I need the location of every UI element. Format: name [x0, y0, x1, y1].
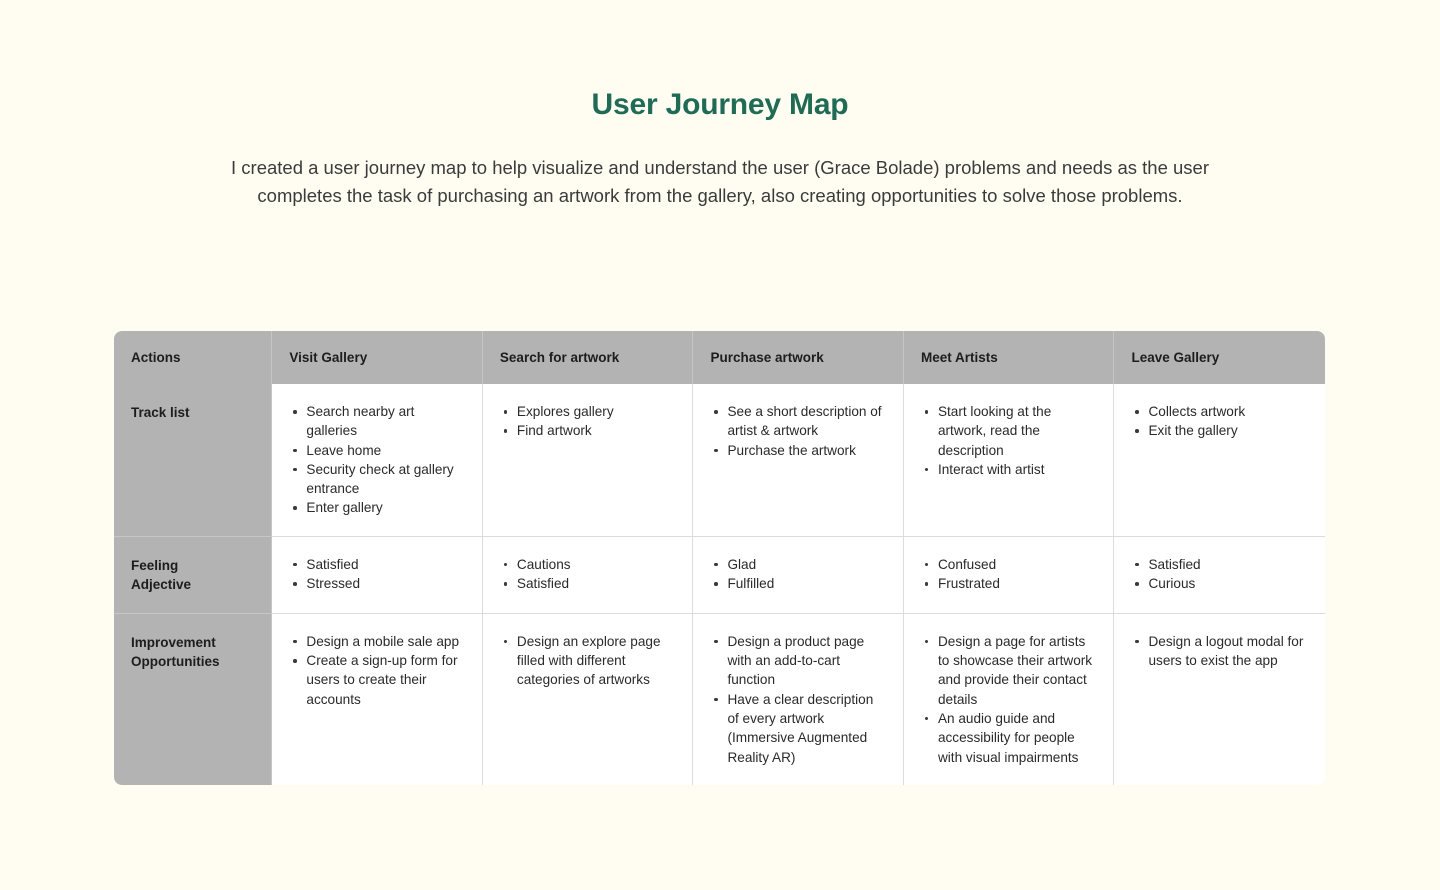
cell-list: Explores galleryFind artwork [503, 402, 677, 441]
list-item: Interact with artist [924, 460, 1098, 479]
row-label-track-list: Track list [114, 384, 272, 537]
cell-list: Design a mobile sale appCreate a sign-up… [292, 632, 466, 709]
page-subtitle: I created a user journey map to help vis… [200, 154, 1240, 210]
journey-table-container: Actions Visit Gallery Search for artwork… [114, 331, 1325, 785]
column-header-meet-artists: Meet Artists [904, 331, 1115, 384]
cell-list: Design an explore page filled with diffe… [503, 632, 677, 690]
column-header-leave-gallery: Leave Gallery [1114, 331, 1325, 384]
table-cell: Design a mobile sale appCreate a sign-up… [272, 614, 483, 785]
cell-list: Search nearby art galleriesLeave homeSec… [292, 402, 466, 518]
list-item: See a short description of artist & artw… [713, 402, 887, 441]
row-label-line: Improvement [131, 633, 255, 652]
table-cell: GladFulfilled [693, 537, 904, 614]
list-item: Start looking at the artwork, read the d… [924, 402, 1098, 460]
row-label-line: Adjective [131, 575, 255, 594]
table-cell: Design a page for artists to showcase th… [904, 614, 1115, 785]
table-cell: CautionsSatisfied [483, 537, 694, 614]
cell-list: CautionsSatisfied [503, 555, 677, 594]
row-label-line: Opportunities [131, 652, 255, 671]
table-cell: Design a product page with an add-to-car… [693, 614, 904, 785]
list-item: Enter gallery [292, 498, 466, 517]
list-item: Glad [713, 555, 887, 574]
table-row: FeelingAdjectiveSatisfiedStressedCaution… [114, 537, 1325, 614]
cell-list: See a short description of artist & artw… [713, 402, 887, 460]
page-header: User Journey Map I created a user journe… [0, 0, 1440, 210]
list-item: Have a clear description of every artwor… [713, 690, 887, 767]
cell-list: SatisfiedStressed [292, 555, 466, 594]
list-item: Exit the gallery [1134, 421, 1309, 440]
cell-list: Design a logout modal for users to exist… [1134, 632, 1309, 671]
table-cell: Design a logout modal for users to exist… [1114, 614, 1325, 785]
table-header: Actions Visit Gallery Search for artwork… [114, 331, 1325, 384]
list-item: Satisfied [1134, 555, 1309, 574]
table-row: ImprovementOpportunitiesDesign a mobile … [114, 614, 1325, 785]
table-cell: SatisfiedStressed [272, 537, 483, 614]
page-title: User Journey Map [0, 88, 1440, 121]
list-item: Confused [924, 555, 1098, 574]
list-item: Leave home [292, 441, 466, 460]
table-cell: Design an explore page filled with diffe… [483, 614, 694, 785]
cell-list: SatisfiedCurious [1134, 555, 1309, 594]
list-item: Cautions [503, 555, 677, 574]
cell-list: Start looking at the artwork, read the d… [924, 402, 1098, 479]
journey-map-table: Actions Visit Gallery Search for artwork… [114, 331, 1325, 785]
row-label-feeling-adjective: FeelingAdjective [114, 537, 272, 614]
list-item: Satisfied [292, 555, 466, 574]
list-item: Design a page for artists to showcase th… [924, 632, 1098, 709]
table-body: Track listSearch nearby art galleriesLea… [114, 384, 1325, 785]
cell-list: Collects artworkExit the gallery [1134, 402, 1309, 441]
table-row: Track listSearch nearby art galleriesLea… [114, 384, 1325, 537]
list-item: Stressed [292, 574, 466, 593]
table-header-row: Actions Visit Gallery Search for artwork… [114, 331, 1325, 384]
cell-list: GladFulfilled [713, 555, 887, 594]
row-label-line: Feeling [131, 556, 255, 575]
list-item: Design a logout modal for users to exist… [1134, 632, 1309, 671]
list-item: Find artwork [503, 421, 677, 440]
row-label-improvement-opportunities: ImprovementOpportunities [114, 614, 272, 785]
column-header-visit-gallery: Visit Gallery [272, 331, 483, 384]
cell-list: Design a product page with an add-to-car… [713, 632, 887, 767]
table-cell: Start looking at the artwork, read the d… [904, 384, 1115, 537]
user-journey-map-page: User Journey Map I created a user journe… [0, 0, 1440, 890]
table-cell: Explores galleryFind artwork [483, 384, 694, 537]
list-item: Satisfied [503, 574, 677, 593]
list-item: Purchase the artwork [713, 441, 887, 460]
list-item: An audio guide and accessibility for peo… [924, 709, 1098, 767]
table-cell: SatisfiedCurious [1114, 537, 1325, 614]
table-cell: See a short description of artist & artw… [693, 384, 904, 537]
list-item: Create a sign-up form for users to creat… [292, 651, 466, 709]
list-item: Explores gallery [503, 402, 677, 421]
column-header-search-for-artwork: Search for artwork [483, 331, 694, 384]
list-item: Search nearby art galleries [292, 402, 466, 441]
column-header-purchase-artwork: Purchase artwork [693, 331, 904, 384]
table-cell: Collects artworkExit the gallery [1114, 384, 1325, 537]
cell-list: ConfusedFrustrated [924, 555, 1098, 594]
table-cell: ConfusedFrustrated [904, 537, 1115, 614]
list-item: Collects artwork [1134, 402, 1309, 421]
list-item: Fulfilled [713, 574, 887, 593]
list-item: Curious [1134, 574, 1309, 593]
table-cell: Search nearby art galleriesLeave homeSec… [272, 384, 483, 537]
column-header-actions: Actions [114, 331, 272, 384]
list-item: Frustrated [924, 574, 1098, 593]
list-item: Design a product page with an add-to-car… [713, 632, 887, 690]
list-item: Security check at gallery entrance [292, 460, 466, 499]
list-item: Design a mobile sale app [292, 632, 466, 651]
list-item: Design an explore page filled with diffe… [503, 632, 677, 690]
cell-list: Design a page for artists to showcase th… [924, 632, 1098, 767]
